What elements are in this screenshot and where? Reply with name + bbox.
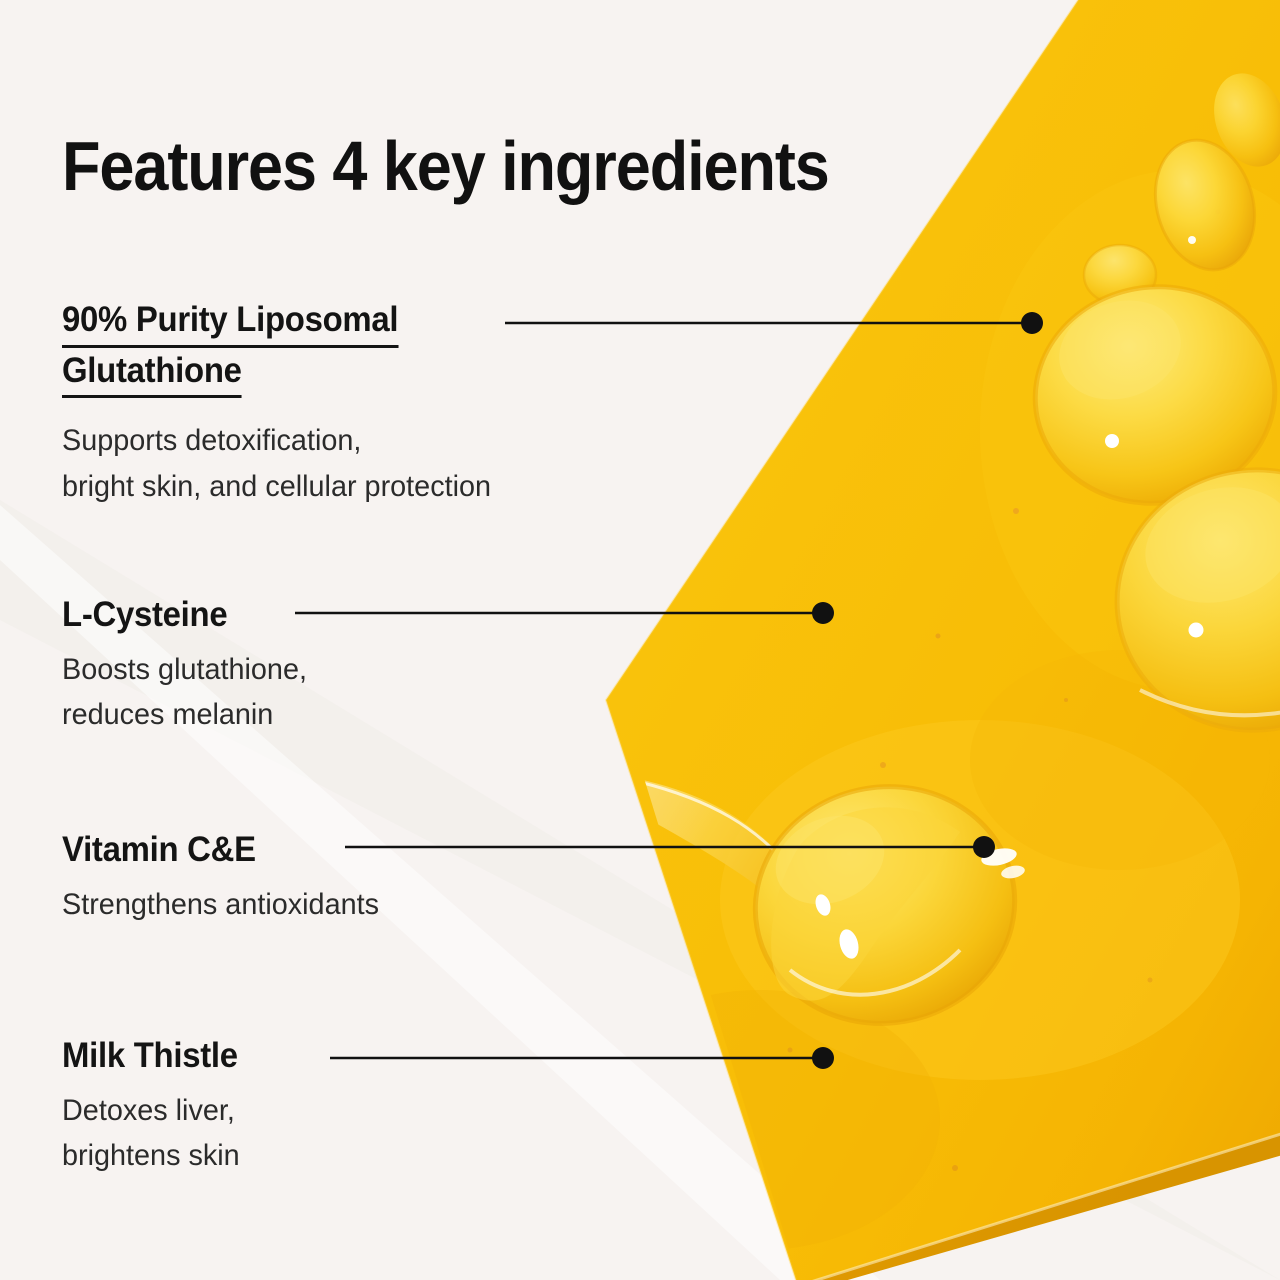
ingredient-description: Detoxes liver, brightens skin bbox=[62, 1088, 242, 1179]
ingredient-item: L-Cysteine Boosts glutathione, reduces m… bbox=[62, 592, 317, 738]
ingredient-description: Supports detoxification, bright skin, an… bbox=[62, 418, 491, 509]
page-title: Features 4 key ingredients bbox=[62, 131, 829, 201]
leader-line-1 bbox=[295, 602, 834, 624]
ingredient-name-line-2: Glutathione bbox=[62, 348, 242, 399]
leader-line-3 bbox=[330, 1047, 834, 1069]
ingredient-description: Boosts glutathione, reduces melanin bbox=[62, 647, 307, 738]
leader-line-2 bbox=[345, 836, 995, 858]
ingredient-item: Milk Thistle Detoxes liver, brightens sk… bbox=[62, 1033, 249, 1179]
ingredient-name: Vitamin C&E bbox=[62, 827, 372, 874]
ingredient-name: L-Cysteine bbox=[62, 592, 302, 639]
ingredient-name-line-1: Milk Thistle bbox=[62, 1036, 238, 1075]
ingredient-name-line-1: Vitamin C&E bbox=[62, 830, 256, 869]
leader-line-0 bbox=[505, 312, 1043, 334]
ingredient-name: Milk Thistle bbox=[62, 1033, 238, 1080]
ingredient-name: 90% Purity Liposomal Glutathione bbox=[62, 297, 482, 398]
ingredient-infographic: Features 4 key ingredients 90% Purity Li… bbox=[0, 0, 1280, 1280]
ingredient-name-line-1: L-Cysteine bbox=[62, 595, 227, 634]
ingredient-description: Strengthens antioxidants bbox=[62, 882, 379, 928]
ingredient-item: 90% Purity Liposomal Glutathione Support… bbox=[62, 297, 509, 509]
ingredient-name-line-1: 90% Purity Liposomal bbox=[62, 297, 398, 348]
ingredient-item: Vitamin C&E Strengthens antioxidants bbox=[62, 827, 392, 927]
